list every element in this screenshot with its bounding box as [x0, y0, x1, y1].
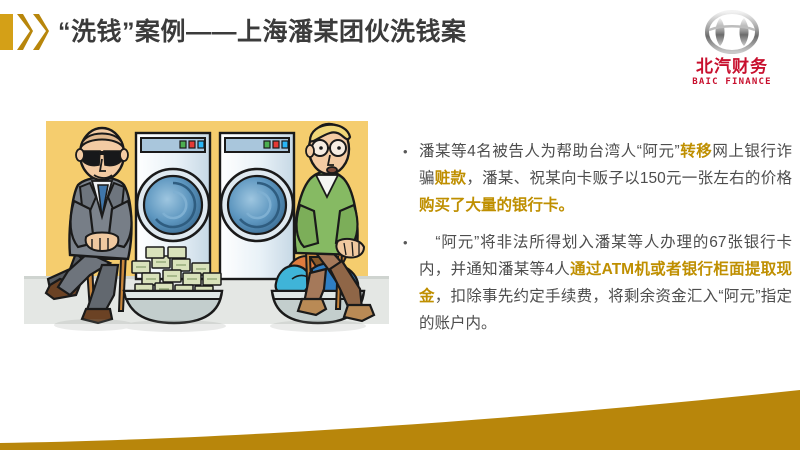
chevron-accent-block [0, 14, 13, 50]
list-item: • 潘某等4名被告人为帮助台湾人“阿元”转移网上银行诈骗赃款，潘某、祝某向卡贩子… [400, 138, 792, 219]
text-run: 潘某等4名被告人为帮助台湾人“阿元” [419, 143, 680, 160]
chevron-right-icon-2 [32, 14, 49, 50]
highlighted-text-run: 赃款 [435, 170, 467, 187]
chevron-right-icon-1 [16, 14, 33, 50]
double-chevron-right-icon [0, 14, 52, 50]
footer-swoosh-decoration [0, 390, 800, 450]
bullet-marker: • [400, 138, 419, 165]
brand-name-cn: 北汽财务 [676, 57, 788, 77]
brand-name-en: BAIC FINANCE [676, 77, 788, 88]
list-item: • “阿元”将非法所得划入潘某等人办理的67张银行卡内，并通知潘某等4人通过AT… [400, 229, 792, 337]
page-title: “洗钱”案例——上海潘某团伙洗钱案 [58, 14, 467, 50]
money-laundering-illustration [24, 113, 389, 335]
highlighted-text-run: 购买了大量的银行卡。 [419, 197, 574, 214]
bullet-1-text: 潘某等4名被告人为帮助台湾人“阿元”转移网上银行诈骗赃款，潘某、祝某向卡贩子以1… [419, 138, 792, 219]
baic-emblem-icon [676, 8, 788, 56]
brand-logo: 北汽财务 BAIC FINANCE [676, 8, 788, 94]
slide-canvas: “洗钱”案例——上海潘某团伙洗钱案 北汽财务 BAIC FINANCE [0, 0, 800, 450]
bullet-marker: • [400, 229, 419, 256]
slide-header: “洗钱”案例——上海潘某团伙洗钱案 北汽财务 BAIC FINANCE [0, 0, 800, 62]
text-run: ，潘某、祝某向卡贩子以150元一张左右的价格 [466, 170, 792, 187]
washing-machine-right [220, 133, 294, 279]
case-description-body: • 潘某等4名被告人为帮助台湾人“阿元”转移网上银行诈骗赃款，潘某、祝某向卡贩子… [400, 138, 792, 347]
bullet-2-text: “阿元”将非法所得划入潘某等人办理的67张银行卡内，并通知潘某等4人通过ATM机… [419, 229, 792, 337]
text-run: ，扣除事先约定手续费，将剩余资金汇入“阿元”指定的账户内。 [419, 288, 792, 332]
highlighted-text-run: 转移 [680, 143, 713, 160]
